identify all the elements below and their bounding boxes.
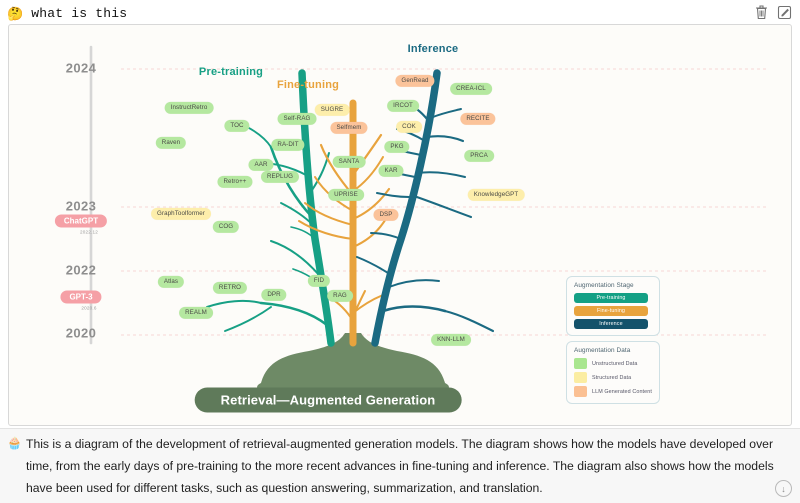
node-atlas[interactable]: Atlas: [158, 276, 184, 288]
node-cog[interactable]: COG: [213, 221, 239, 233]
legend-data-label-structured: Structured Data: [592, 375, 631, 381]
timeline-date-gpt3: 2020.6: [81, 306, 96, 311]
node-cok[interactable]: COK: [396, 121, 422, 133]
node-retro[interactable]: RETRO: [213, 282, 247, 294]
node-aar[interactable]: AAR: [248, 159, 273, 171]
legend-stage-item-pre-training: Pre-training: [574, 293, 652, 303]
legend-data-item-llm-generated: LLM Generated Content: [574, 386, 652, 397]
arrow-down-circle-icon[interactable]: ↓: [775, 480, 792, 497]
node-ra-dit[interactable]: RA-DIT: [271, 139, 304, 151]
trash-icon[interactable]: [754, 4, 769, 20]
legend-swatch-structured: [574, 372, 587, 383]
legend-stage-pill-fine-tuning: Fine-tuning: [574, 306, 648, 316]
legend-augmentation-stage: Augmentation Stage Pre-training Fine-tun…: [566, 276, 660, 336]
node-realm[interactable]: REALM: [179, 307, 213, 319]
legend-stage-item-fine-tuning: Fine-tuning: [574, 306, 652, 316]
year-2024: 2024: [66, 61, 97, 76]
user-prompt-text: what is this: [31, 6, 127, 21]
legend-swatch-llm-generated: [574, 386, 587, 397]
node-prca[interactable]: PRCA: [464, 150, 494, 162]
edit-icon[interactable]: [777, 4, 792, 20]
year-2022: 2022: [66, 263, 97, 278]
node-genread[interactable]: GenRead: [395, 75, 434, 87]
node-ircot[interactable]: IRCOT: [387, 100, 419, 112]
legend-data-label-unstructured: Unstructured Data: [592, 361, 637, 367]
node-dpr[interactable]: DPR: [261, 289, 286, 301]
node-dsp[interactable]: DSP: [373, 209, 398, 221]
node-recite[interactable]: RECITE: [460, 113, 495, 125]
timeline-marker-chatgpt: ChatGPT: [55, 215, 107, 228]
legend-stage-pill-inference: Inference: [574, 319, 648, 329]
timeline-date-chatgpt: 2022.12: [80, 230, 98, 235]
node-fid[interactable]: FID: [308, 275, 330, 287]
node-kar[interactable]: KAR: [378, 165, 403, 177]
node-graphtoolformer[interactable]: GraphToolformer: [151, 208, 211, 220]
legend-stage-pill-pre-training: Pre-training: [574, 293, 648, 303]
prompt-actions: [754, 4, 792, 20]
node-raven[interactable]: Raven: [156, 137, 186, 149]
root-label: Retrieval—Augmented Generation: [195, 388, 462, 413]
branch-label-pre-training: Pre-training: [199, 66, 263, 78]
year-2023: 2023: [66, 199, 97, 214]
branch-label-fine-tuning: Fine-tuning: [277, 79, 339, 91]
node-santa[interactable]: SANTA: [333, 156, 366, 168]
legend-data-label-llm-generated: LLM Generated Content: [592, 389, 652, 395]
year-2020: 2020: [66, 326, 97, 341]
node-toc[interactable]: TOC: [224, 120, 249, 132]
node-sugre[interactable]: SUGRE: [315, 104, 350, 116]
node-crea-icl[interactable]: CREA-ICL: [450, 83, 492, 95]
user-prompt-row: 🤔 what is this: [0, 0, 800, 26]
diagram-card: Pre-training Fine-tuning Inference 2024 …: [8, 24, 792, 426]
assistant-answer-block: 🧁 This is a diagram of the development o…: [0, 428, 800, 503]
branch-label-inference: Inference: [408, 43, 459, 55]
timeline-marker-gpt3: GPT-3: [60, 291, 101, 304]
legend-data-title: Augmentation Data: [574, 347, 652, 354]
legend-swatch-unstructured: [574, 358, 587, 369]
chat-screen: 🤔 what is this: [0, 0, 800, 502]
node-rag[interactable]: RAG: [327, 290, 353, 302]
cupcake-icon: 🧁: [7, 437, 22, 449]
node-selfmem[interactable]: Selfmem: [330, 122, 367, 134]
rag-tree-diagram: Pre-training Fine-tuning Inference 2024 …: [9, 25, 791, 425]
node-knn-llm[interactable]: KNN-LLM: [431, 334, 471, 346]
node-pkg[interactable]: PKG: [384, 141, 409, 153]
legend-stage-title: Augmentation Stage: [574, 282, 652, 289]
legend-stage-item-inference: Inference: [574, 319, 652, 329]
node-knowledgegpt[interactable]: KnowledgeGPT: [468, 189, 525, 201]
legend-data-item-unstructured: Unstructured Data: [574, 358, 652, 369]
legend-augmentation-data: Augmentation Data Unstructured Data Stru…: [566, 341, 660, 404]
thinking-face-icon: 🤔: [7, 7, 23, 20]
assistant-answer-text: This is a diagram of the development of …: [26, 433, 778, 499]
node-self-rag[interactable]: Self-RAG: [278, 113, 317, 125]
legend-data-item-structured: Structured Data: [574, 372, 652, 383]
node-instructretro[interactable]: InstructRetro: [165, 102, 214, 114]
node-uprise[interactable]: UPRISE: [328, 189, 364, 201]
node-replug[interactable]: REPLUG: [261, 171, 299, 183]
node-retro-plusplus[interactable]: Retro++: [217, 176, 252, 188]
